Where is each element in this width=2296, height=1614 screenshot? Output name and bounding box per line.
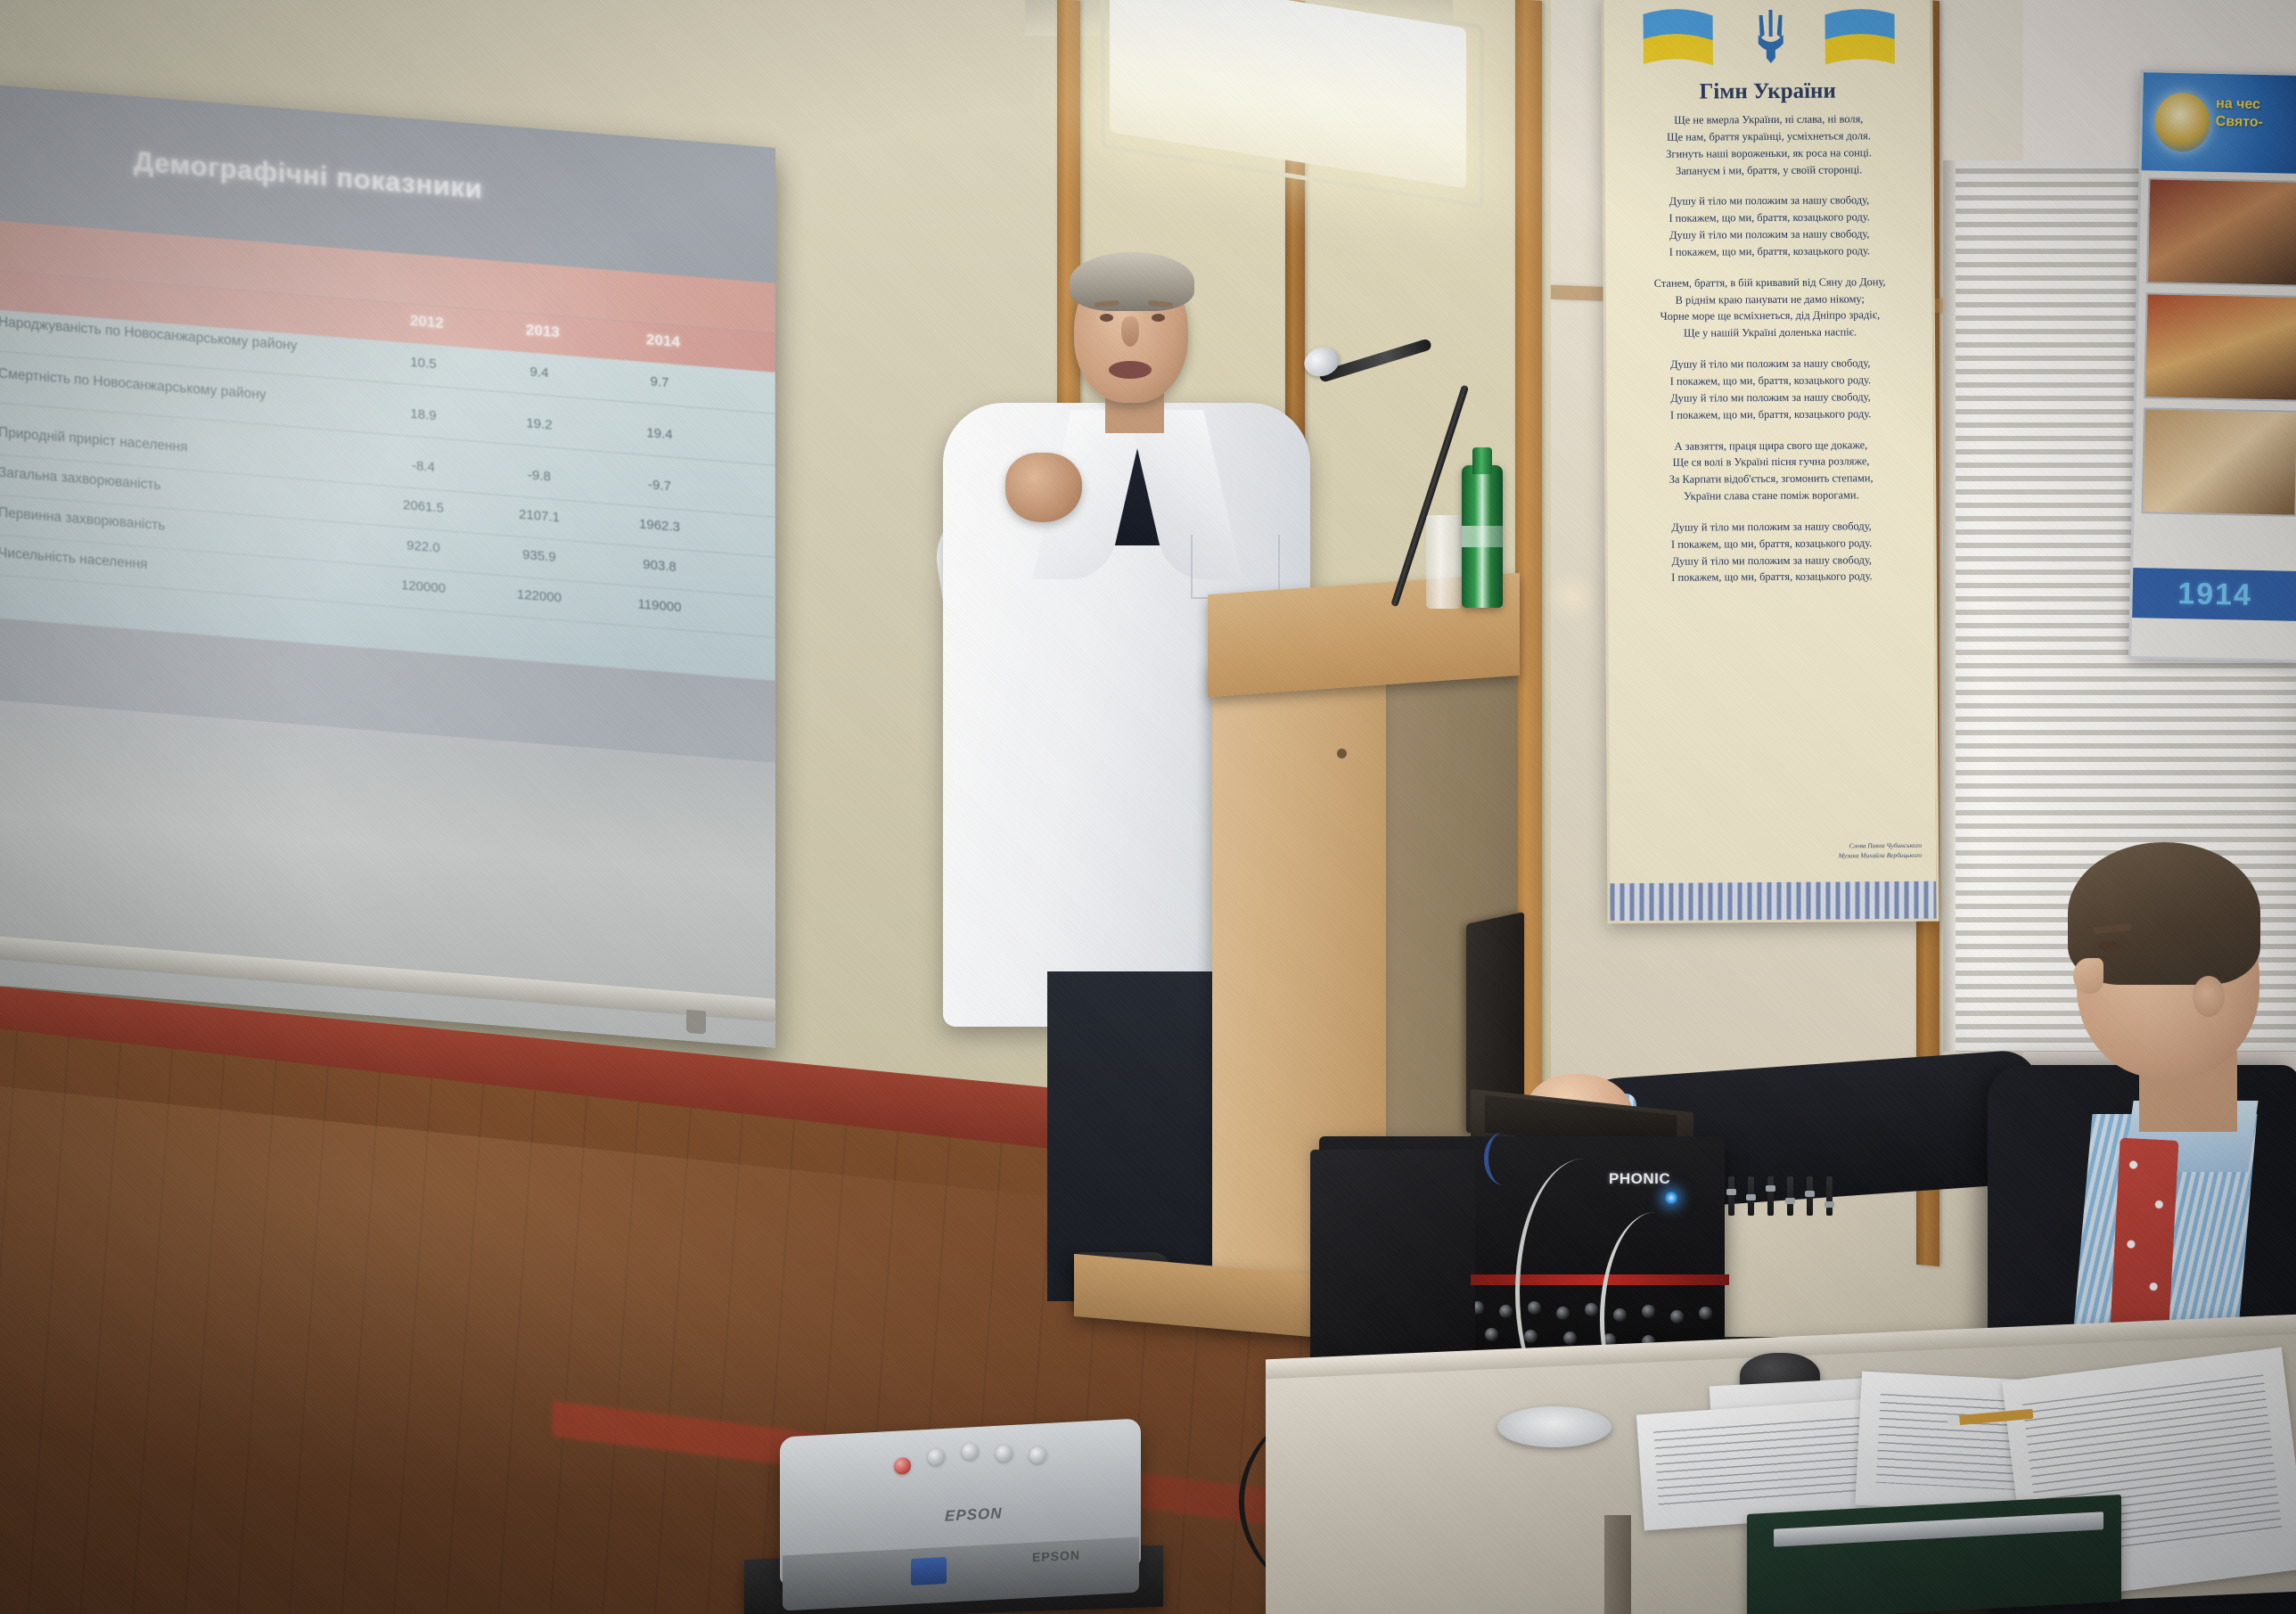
- anthem-line: Душу й тіло ми положим за нашу свободу,: [1618, 192, 1921, 210]
- row-value-2014: 119000: [619, 595, 700, 617]
- presentation-slide: Демографічні показники 2012 2013 2014 На…: [0, 85, 775, 763]
- speaker-hair: [1070, 252, 1194, 311]
- anthem-line: Запануєм і ми, браття, у своїй сторонці.: [1618, 160, 1921, 179]
- projector-enter-button[interactable]: [1029, 1446, 1046, 1464]
- row-value-2012: 120000: [383, 576, 463, 597]
- projector-source-button[interactable]: [962, 1443, 979, 1461]
- row-value-2013: 9.4: [499, 362, 579, 383]
- projection-screen: Демографічні показники 2012 2013 2014 На…: [0, 85, 775, 1048]
- row-value-2014: 9.7: [619, 372, 700, 393]
- mixer-fader-bank[interactable]: [1728, 1176, 1844, 1239]
- anthem-line: Ще не вмерла України, ні слава, ні воля,: [1617, 111, 1920, 129]
- poster-header-banner: на чес Свято-: [2142, 72, 2296, 174]
- coat-of-arms-icon: [2154, 92, 2210, 152]
- lens-flare: [1546, 570, 1598, 622]
- projector-power-button[interactable]: [894, 1457, 911, 1475]
- anthem-music-credit: Музика Михайла Вербицького: [1743, 851, 1922, 862]
- anthem-line: Згинуть наші вороженьки, як роса на сонц…: [1618, 144, 1921, 163]
- anthem-credits: Слова Павла Чубинського Музика Михайла В…: [1743, 841, 1922, 862]
- row-value-2013: 19.2: [499, 414, 579, 435]
- anthem-title: Гімн України: [1604, 78, 1931, 106]
- table-leg: [1604, 1515, 1631, 1614]
- speaker-nose: [1121, 316, 1139, 347]
- poster-headline: на чес Свято-: [2216, 95, 2296, 134]
- seated-man-nose: [2073, 958, 2103, 994]
- column-header-2012: 2012: [410, 312, 444, 332]
- speaker-mouth: [1109, 361, 1152, 379]
- anthem-line: За Карпати відоб'ється, згомонить степам…: [1619, 470, 1923, 488]
- photo-scene: Демографічні показники 2012 2013 2014 На…: [0, 0, 2296, 1614]
- row-value-2014: 19.4: [619, 423, 700, 445]
- projector-menu-button[interactable]: [928, 1448, 945, 1466]
- column-header-2014: 2014: [646, 331, 680, 351]
- ukrainian-flag-icon: [1639, 2, 1898, 73]
- poster-headline-line1: на чес: [2216, 95, 2296, 116]
- poster-photo-grid: [2141, 177, 2296, 526]
- anthem-line: Душу й тіло ми положим за нашу свободу,: [1619, 355, 1922, 373]
- anthem-line: Душу й тіло ми положим за нашу свободу,: [1619, 389, 1922, 407]
- anthem-line: Ще у нашій Україні доленька наспіє.: [1619, 324, 1922, 342]
- anthem-stanza-2: Станем, браття, в бій кривавий від Сяну …: [1619, 274, 1923, 343]
- speaker-raised-hand: [1005, 453, 1082, 522]
- anthem-line: І покажем, що ми, браття, козацького род…: [1620, 535, 1923, 553]
- anthem-line: І покажем, що ми, браття, козацького род…: [1618, 209, 1921, 227]
- projector-keystone-button[interactable]: [996, 1445, 1013, 1462]
- speaker-eye-left: [1100, 314, 1113, 322]
- anthem-line: Ще нам, браття українці, усміхнеться дол…: [1617, 127, 1920, 146]
- ring-binder: [1747, 1495, 2121, 1614]
- row-value-2013: -9.8: [499, 465, 579, 487]
- network-cable: [1484, 1132, 1524, 1185]
- poster-photo: [2144, 292, 2296, 402]
- poster-decorative-border: [1610, 881, 1936, 922]
- anthem-line: І покажем, що ми, браття, козацького род…: [1619, 372, 1922, 390]
- lab-coat-pocket: [1191, 535, 1280, 599]
- poster-headline-line2: Свято-: [2216, 113, 2296, 134]
- row-value-2013: 2107.1: [499, 505, 579, 527]
- anthem-line: Ще ся волі в Україні пісня гучна розляже…: [1619, 453, 1923, 471]
- anthem-stanza-1: Ще не вмерла України, ні слава, ні воля,…: [1617, 111, 1921, 180]
- poster-photo: [2146, 177, 2296, 287]
- window-blinds-edge: [1943, 160, 1956, 1052]
- anthem-line: Душу й тіло ми положим за нашу свободу,: [1620, 551, 1923, 569]
- row-value-2012: 18.9: [383, 404, 463, 425]
- seated-man-ear: [2193, 976, 2225, 1017]
- cd-disc: [1497, 1406, 1611, 1447]
- seated-man-eye: [2098, 941, 2121, 952]
- anthem-line: Душу й тіло ми положим за нашу свободу,: [1618, 225, 1921, 244]
- anthem-line: Чорне море ще всміхнеться, дід Дніпро зр…: [1619, 307, 1922, 325]
- poster-year-label: 1914: [2132, 568, 2296, 621]
- anthem-line: А завзяття, праця щира свого ще докаже,: [1619, 436, 1923, 455]
- anthem-line: Душу й тіло ми положим за нашу свободу,: [1619, 518, 1923, 537]
- anthem-line: І покажем, що ми, браття, козацького род…: [1620, 568, 1923, 586]
- row-value-2014: -9.7: [619, 475, 700, 496]
- anthem-line: В ріднім краю панувати не дамо нікому;: [1619, 290, 1922, 308]
- speaker-eye-right: [1152, 314, 1165, 322]
- row-value-2012: 10.5: [383, 352, 463, 373]
- projector-logo: EPSON: [945, 1504, 1003, 1525]
- vga-connector: [911, 1557, 947, 1585]
- row-value-2012: -8.4: [383, 455, 463, 477]
- anthem-chorus-1: Душу й тіло ми положим за нашу свободу, …: [1618, 192, 1922, 261]
- row-value-2013: 122000: [499, 586, 579, 607]
- poster-photo: [2142, 407, 2296, 517]
- row-value-2014: 1962.3: [619, 515, 700, 537]
- podium-screw-hole: [1337, 749, 1347, 758]
- commemorative-poster: на чес Свято- 1914: [2128, 70, 2296, 662]
- anthem-text: Ще не вмерла України, ні слава, ні воля,…: [1617, 111, 1923, 602]
- power-led-icon: [1665, 1192, 1677, 1204]
- column-header-2013: 2013: [526, 321, 560, 341]
- anthem-stanza-3: А завзяття, праця щира свого ще докаже, …: [1619, 436, 1923, 505]
- anthem-line: Станем, браття, в бій кривавий від Сяну …: [1619, 274, 1922, 292]
- bottle-label: [1462, 526, 1503, 547]
- row-value-2012: 2061.5: [383, 496, 463, 517]
- row-value-2012: 922.0: [383, 536, 463, 557]
- drinking-glass: [1426, 515, 1462, 609]
- anthem-line: І покажем, що ми, браття, козацького род…: [1618, 242, 1921, 261]
- anthem-line: І покажем, що ми, браття, козацького род…: [1619, 405, 1923, 423]
- row-value-2014: 903.8: [619, 555, 700, 577]
- anthem-chorus-2: Душу й тіло ми положим за нашу свободу, …: [1619, 355, 1923, 424]
- slide-data-table: 2012 2013 2014 Народжуваність по Новосан…: [0, 270, 775, 681]
- projector-brand-label: EPSON: [1032, 1548, 1080, 1565]
- anthem-poster: Гімн України Ще не вмерла України, ні сл…: [1601, 0, 1939, 923]
- slide-title: Демографічні показники: [134, 145, 758, 227]
- screen-pull-tab: [686, 1010, 706, 1035]
- bottle-cap: [1472, 447, 1492, 474]
- anthem-line: України слава стане поміж ворогами.: [1619, 487, 1923, 505]
- anthem-chorus-3: Душу й тіло ми положим за нашу свободу, …: [1619, 518, 1923, 587]
- row-value-2013: 935.9: [499, 545, 579, 567]
